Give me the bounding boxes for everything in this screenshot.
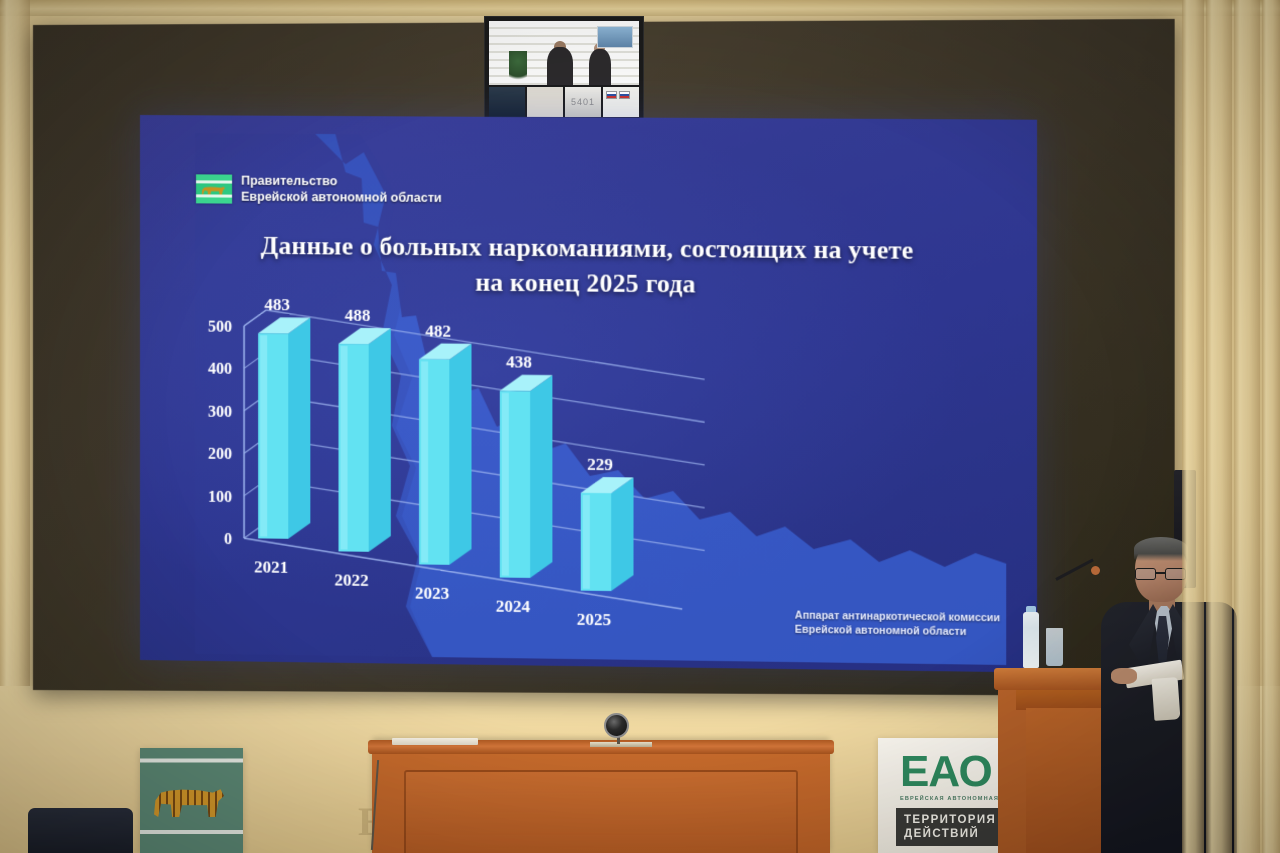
bar-value-label-2021: 483 <box>264 295 290 314</box>
bar-value-label-2023: 482 <box>425 321 451 340</box>
bar-chart: 0100200300400500229202543820244822023488… <box>196 295 966 625</box>
wall-pilaster-3 <box>1234 0 1260 853</box>
y-axis-tick-200: 200 <box>208 446 232 463</box>
vc-participant-strip: Ленинский 5401 <box>489 87 639 117</box>
vc-tile-3[interactable]: 5401 <box>565 87 601 117</box>
water-bottle <box>1023 612 1039 668</box>
vc-plant <box>509 51 527 85</box>
slide-title: Данные о больных наркоманиями, состоящих… <box>140 227 1037 305</box>
jao-flag-banner <box>140 748 243 853</box>
conference-room-photo: Ленинский 5401 Пра <box>0 0 1280 853</box>
drinking-glass <box>1046 628 1063 666</box>
y-axis-tick-300: 300 <box>208 403 232 420</box>
wall-pilaster-2 <box>1206 0 1232 853</box>
vc-participant-1 <box>547 47 573 85</box>
vc-main-speaker-view <box>489 21 639 85</box>
speaker-hand <box>1111 668 1137 684</box>
eao-slogan-line-2: ДЕЙСТВИЙ <box>904 828 979 840</box>
vc-flag-row <box>606 91 630 99</box>
desk-front-panel <box>404 770 798 853</box>
logo-line-1: Правительство <box>241 174 337 189</box>
eao-flag-tiger-icon <box>196 174 232 203</box>
x-axis-label-2022: 2022 <box>334 570 368 590</box>
video-conference-window[interactable]: Ленинский 5401 <box>484 16 644 122</box>
desk-papers <box>392 738 478 745</box>
speaker-hair <box>1134 537 1188 561</box>
tiger-emblem-icon <box>154 784 224 817</box>
wall-pilaster-1 <box>1182 0 1204 853</box>
vc-participant-2 <box>589 49 611 85</box>
chart-canvas: 0100200300400500229202543820244822023488… <box>196 295 966 625</box>
x-axis-label-2024: 2024 <box>496 597 531 617</box>
bar-value-label-2025: 229 <box>587 455 613 474</box>
webcam-icon <box>604 713 629 738</box>
slide-title-line-2: на конец 2025 года <box>475 268 696 299</box>
bar-value-label-2024: 438 <box>506 353 532 372</box>
x-axis-label-2021: 2021 <box>254 557 288 576</box>
footer-line-2: Еврейской автономной области <box>795 624 966 638</box>
government-logo: Правительство Еврейской автономной облас… <box>196 173 442 206</box>
webcam-base <box>590 742 652 747</box>
y-axis-tick-100: 100 <box>208 488 232 505</box>
bar-2023: 482 <box>419 321 471 565</box>
y-axis-tick-400: 400 <box>208 361 232 378</box>
bar-value-label-2022: 488 <box>345 306 371 325</box>
glasses-bridge <box>1156 572 1165 574</box>
vc-tile-1[interactable] <box>489 87 525 117</box>
x-axis-label-2023: 2023 <box>415 583 449 603</box>
vc-tile-2[interactable]: Ленинский <box>527 87 563 117</box>
chair <box>28 808 133 853</box>
eao-slogan-line-1: ТЕРРИТОРИЯ <box>904 814 996 826</box>
tiger-glyph <box>202 185 225 195</box>
conference-desk <box>372 740 830 853</box>
presentation-slide: Правительство Еврейской автономной облас… <box>140 115 1037 673</box>
bar-2022: 488 <box>338 306 390 552</box>
vc-room-code: 5401 <box>571 97 595 107</box>
x-axis-label-2025: 2025 <box>577 610 611 630</box>
bar-2025: 229 <box>581 455 634 592</box>
y-axis-tick-500: 500 <box>208 319 232 336</box>
y-axis-tick-0: 0 <box>224 531 232 548</box>
footer-line-1: Аппарат антинаркотической комиссии <box>795 609 1000 624</box>
ceiling-molding <box>0 0 1280 16</box>
vc-picture-in-picture <box>597 26 633 48</box>
speaker-documents-page <box>1152 677 1181 721</box>
russia-flag-icon-2 <box>619 91 630 99</box>
logo-text-block: Правительство Еврейской автономной облас… <box>241 174 442 207</box>
slide-footer-credit: Аппарат антинаркотической комиссии Еврей… <box>795 608 1000 639</box>
slide-title-line-1: Данные о больных наркоманиями, состоящих… <box>261 231 914 265</box>
vc-tile-4[interactable] <box>603 87 639 117</box>
logo-line-2: Еврейской автономной области <box>241 189 442 204</box>
glasses-lens-left <box>1135 568 1156 580</box>
russia-flag-icon <box>606 91 617 99</box>
bar-2024: 438 <box>500 353 553 579</box>
bar-2021: 483 <box>258 295 310 539</box>
wall-pilaster-4 <box>1262 0 1280 853</box>
